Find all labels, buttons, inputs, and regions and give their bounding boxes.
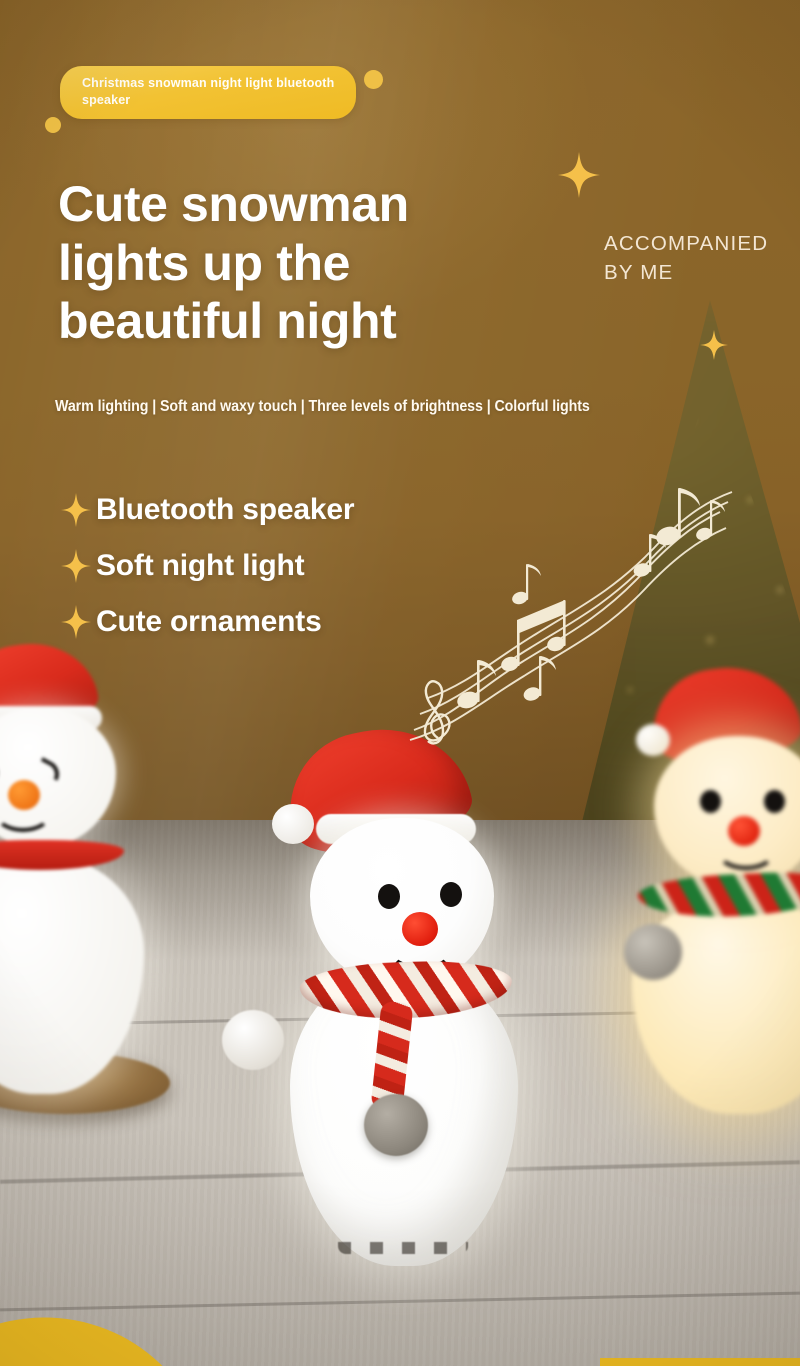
- eye-right: [764, 790, 785, 813]
- list-item: Cute ornaments: [56, 594, 476, 650]
- badge-label: Christmas snowman night light bluetooth …: [82, 75, 342, 109]
- gray-pom-pom: [364, 1094, 428, 1156]
- snowman-light-left: [0, 644, 166, 1094]
- red-scarf: [0, 840, 124, 870]
- product-category-badge[interactable]: Christmas snowman night light bluetooth …: [60, 66, 356, 119]
- feature-label: Bluetooth speaker: [96, 493, 354, 527]
- eye-left: [700, 790, 721, 813]
- hat-pom: [636, 724, 670, 756]
- feature-list: Bluetooth speaker Soft night light Cute …: [56, 482, 476, 650]
- snowman-light-right: [628, 668, 800, 1114]
- list-item: Soft night light: [56, 538, 476, 594]
- decorative-dot: [45, 117, 61, 133]
- smile-mouth: [716, 832, 776, 870]
- feature-tagline: Warm lighting | Soft and waxy touch | Th…: [55, 398, 590, 416]
- decorative-dot: [364, 70, 383, 89]
- feature-label: Cute ornaments: [96, 605, 322, 639]
- eye-right: [440, 882, 462, 907]
- snowman-light-center: [268, 726, 536, 1304]
- yellow-bottom-strip: [600, 1358, 800, 1366]
- sparkle-star-icon: [56, 605, 96, 639]
- list-item: Bluetooth speaker: [56, 482, 476, 538]
- feature-label: Soft night light: [96, 549, 304, 583]
- speaker-vents: [338, 1242, 468, 1254]
- page-title: Cute snowman lights up the beautiful nig…: [58, 175, 538, 351]
- gray-pom-pom: [624, 924, 682, 980]
- sparkle-star-icon: [56, 549, 96, 583]
- hat-pom: [272, 804, 314, 844]
- sparkle-star-icon: [56, 493, 96, 527]
- snowman-body: [0, 856, 144, 1094]
- product-banner: Christmas snowman night light bluetooth …: [0, 0, 800, 1366]
- sparkle-star-icon: [558, 152, 600, 198]
- white-pom-pom: [222, 1010, 284, 1070]
- sparkle-star-icon: [700, 330, 728, 360]
- eye-left: [378, 884, 400, 909]
- slogan-text: ACCOMPANIED BY ME: [604, 229, 794, 287]
